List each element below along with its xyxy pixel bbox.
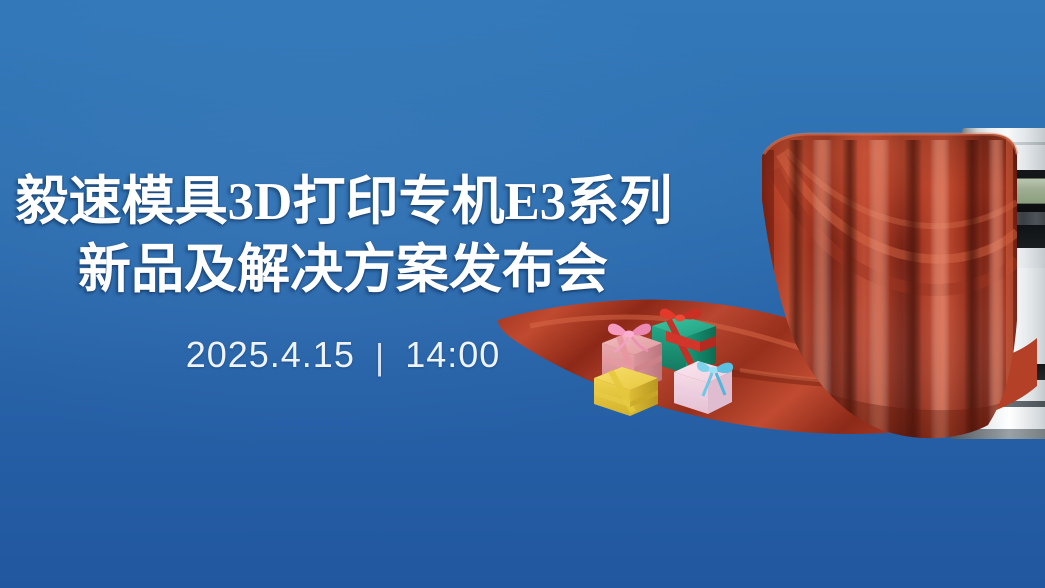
headline-line-1: 毅速模具3D打印专机E3系列: [0, 168, 710, 236]
event-time: 14:00: [405, 334, 500, 375]
event-date: 2025.4.15: [186, 334, 355, 375]
headline-block: 毅速模具3D打印专机E3系列 新品及解决方案发布会 2025.4.15|14:0…: [0, 168, 710, 376]
event-datetime: 2025.4.15|14:00: [0, 334, 710, 376]
datetime-separator: |: [375, 336, 385, 378]
event-poster: 毅速模具3D打印专机E3系列 新品及解决方案发布会 2025.4.15|14:0…: [0, 0, 1045, 588]
headline-line-2: 新品及解决方案发布会: [0, 236, 710, 304]
